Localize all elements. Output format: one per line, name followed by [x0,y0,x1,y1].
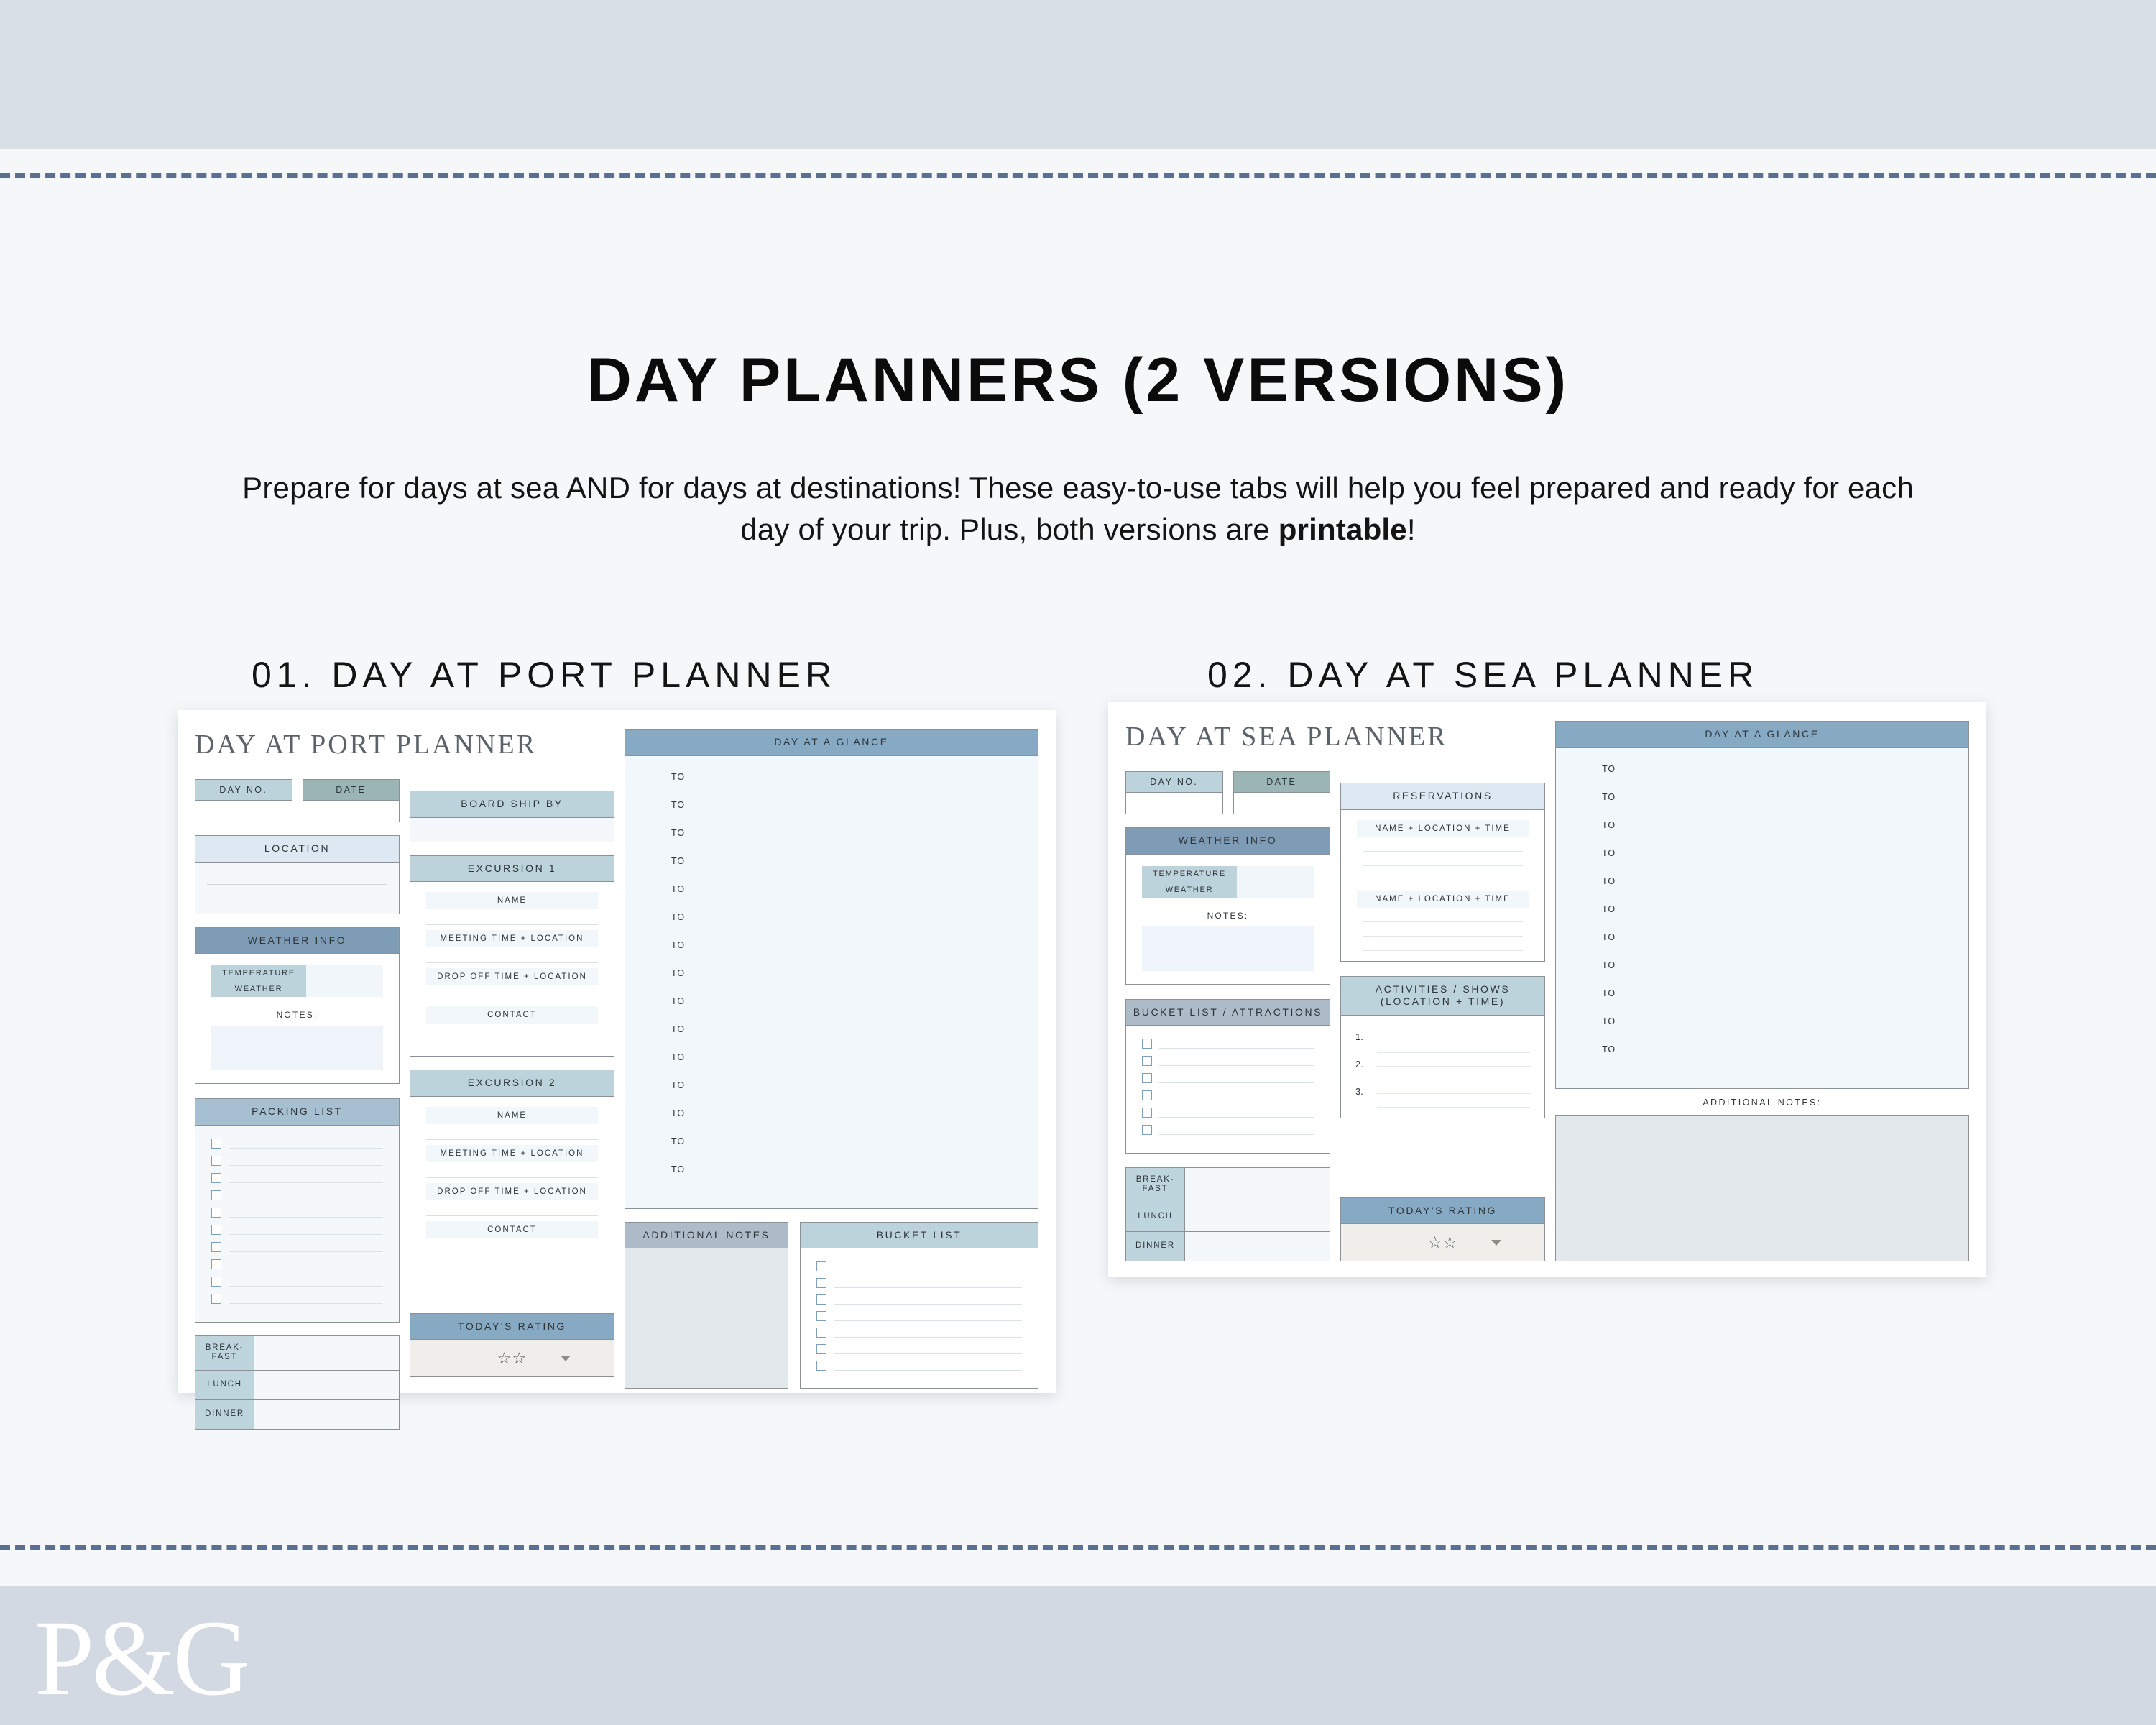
excursion-write-line[interactable] [426,1039,598,1039]
activity-write-lines[interactable] [1377,1080,1530,1108]
checklist-row[interactable] [816,1277,1022,1288]
glance-time-row[interactable]: TO [625,1164,1038,1174]
excursion-write-line[interactable] [426,924,598,925]
glance-time-row[interactable]: TO [1556,932,1968,942]
sea-rating-module[interactable]: TODAY'S RATING ☆☆ [1340,1197,1545,1262]
activity-write-line[interactable] [1377,1039,1530,1039]
description-emphasis: printable [1279,512,1407,546]
checklist-row[interactable] [1142,1090,1314,1100]
reservation-write-lines[interactable] [1357,851,1529,880]
chevron-down-icon[interactable] [1491,1240,1501,1246]
checklist-row[interactable] [1142,1107,1314,1118]
meal-input[interactable] [1185,1168,1330,1202]
meal-row: DINNER [195,1400,399,1429]
page-title: DAY PLANNERS (2 VERSIONS) [0,345,2156,416]
sea-temperature-input[interactable] [1237,866,1314,882]
checkbox-icon[interactable] [816,1294,826,1305]
checklist-write-line[interactable] [229,1217,383,1218]
checklist-write-line[interactable] [834,1287,1022,1288]
reservation-field-label: NAME + LOCATION + TIME [1357,820,1529,837]
checklist-write-line[interactable] [1159,1082,1314,1083]
checkbox-icon[interactable] [1142,1090,1152,1100]
meal-input[interactable] [1185,1202,1330,1231]
glance-time-row[interactable]: TO [625,1024,1038,1034]
meal-row: LUNCH [1126,1202,1330,1232]
port-bottom-right-row: ADDITIONAL NOTES BUCKET LIST [625,1222,1038,1389]
sea-additional-notes-label: ADDITIONAL NOTES: [1555,1089,1969,1115]
glance-time-row[interactable]: TO [1556,764,1968,774]
sea-date-input[interactable] [1234,792,1330,814]
checklist-write-line[interactable] [834,1353,1022,1354]
sea-activities-label-line2: (LOCATION + TIME) [1381,995,1505,1007]
reservation-write-line[interactable] [1363,880,1523,880]
glance-time-row[interactable]: TO [1556,1016,1968,1026]
checklist-row[interactable] [816,1327,1022,1338]
port-board-ship-module: BOARD SHIP BY [410,791,614,842]
checkbox-icon[interactable] [211,1138,221,1149]
checkbox-icon[interactable] [211,1207,221,1218]
top-color-band [0,0,2156,149]
checklist-row[interactable] [211,1276,383,1287]
meal-label: DINNER [195,1400,254,1429]
glance-time-row[interactable]: TO [625,1080,1038,1090]
sea-activities-module: ACTIVITIES / SHOWS (LOCATION + TIME) 1.2… [1340,976,1545,1118]
planner-port-section-title: 01. DAY AT PORT PLANNER [252,654,837,696]
checkbox-icon[interactable] [816,1328,826,1338]
reservation-write-line[interactable] [1363,936,1523,937]
meal-label: LUNCH [1126,1202,1185,1231]
checklist-write-line[interactable] [1159,1048,1314,1049]
reservation-write-line[interactable] [1363,865,1523,866]
port-rating-label: TODAY'S RATING [410,1314,614,1340]
sea-bucket-list-rows [1126,1025,1330,1153]
port-board-ship-input[interactable] [410,817,614,842]
sea-day-no-field[interactable]: DAY NO. [1125,771,1223,814]
sea-date-label: DATE [1234,772,1330,792]
activity-row[interactable]: 3. [1355,1080,1530,1108]
checklist-row[interactable] [1142,1055,1314,1066]
glance-time-row[interactable]: TO [1556,848,1968,858]
port-middle-spacer [410,729,614,791]
port-excursion-2-module: EXCURSION 2 NAMEMEETING TIME + LOCATIOND… [410,1069,614,1271]
port-rating-select[interactable]: ☆☆ [410,1339,614,1376]
port-location-module: LOCATION [195,835,400,914]
excursion-field[interactable]: CONTACT [426,1006,598,1039]
port-middle-flex-spacer [410,1284,614,1313]
activity-write-line[interactable] [1377,1107,1530,1108]
glance-time-row[interactable]: TO [625,912,1038,922]
sea-temperature-label: TEMPERATURE [1142,866,1237,882]
activity-number: 3. [1355,1080,1371,1097]
glance-time-row[interactable]: TO [625,968,1038,978]
glance-time-row[interactable]: TO [1556,1044,1968,1054]
port-excursion-1-module: EXCURSION 1 NAMEMEETING TIME + LOCATIOND… [410,855,614,1057]
port-day-no-field[interactable]: DAY NO. [195,779,292,822]
checklist-row[interactable] [211,1138,383,1149]
bottom-dashed-divider [0,1545,2156,1550]
checklist-write-line[interactable] [229,1200,383,1200]
glance-time-row[interactable]: TO [625,1136,1038,1146]
sea-rating-stars: ☆☆ [1428,1233,1457,1252]
top-dashed-divider [0,173,2156,178]
port-weather-notes-input[interactable] [211,1026,383,1070]
sea-activities-rows: 1.2.3. [1341,1015,1544,1118]
sea-weather-notes-label: NOTES: [1142,911,1314,921]
excursion-field[interactable]: MEETING TIME + LOCATION [426,930,598,963]
glance-time-row[interactable]: TO [1556,876,1968,886]
checkbox-icon[interactable] [816,1278,826,1288]
sea-additional-notes-input[interactable] [1555,1115,1969,1262]
excursion-field[interactable]: CONTACT [426,1221,598,1254]
excursion-field-label: MEETING TIME + LOCATION [426,1145,598,1162]
glance-time-row[interactable]: TO [625,856,1038,866]
port-column-left: DAY AT PORT PLANNER DAY NO. DATE LOCATIO… [195,729,400,1377]
excursion-write-line[interactable] [426,1253,598,1254]
glance-time-row[interactable]: TO [625,940,1038,950]
checklist-row[interactable] [211,1172,383,1183]
activity-row[interactable]: 2. [1355,1053,1530,1080]
excursion-field[interactable]: NAME [426,1107,598,1140]
port-weather-input[interactable] [306,981,383,997]
sea-column-right: DAY AT A GLANCE TOTOTOTOTOTOTOTOTOTOTO A… [1555,721,1969,1261]
sea-column-middle: RESERVATIONS NAME + LOCATION + TIMENAME … [1340,721,1545,1261]
port-bucket-list-rows [801,1248,1038,1388]
port-glance-rows: TOTOTOTOTOTOTOTOTOTOTOTOTOTOTO [625,755,1038,1208]
checklist-row[interactable] [816,1360,1022,1371]
reservation-field-label: NAME + LOCATION + TIME [1357,891,1529,908]
checklist-write-line[interactable] [834,1370,1022,1371]
checkbox-icon[interactable] [816,1361,826,1371]
port-additional-notes-label: ADDITIONAL NOTES [625,1223,788,1248]
reservation-write-line[interactable] [1363,950,1523,951]
glance-time-row[interactable]: TO [1556,820,1968,830]
checkbox-icon[interactable] [211,1294,221,1304]
meal-label: BREAK-FAST [1126,1168,1185,1202]
excursion-field-label: DROP OFF TIME + LOCATION [426,1183,598,1200]
port-column-middle: BOARD SHIP BY EXCURSION 1 NAMEMEETING TI… [410,729,614,1377]
reservation-write-line[interactable] [1363,921,1523,922]
checklist-row[interactable] [211,1190,383,1200]
checkbox-icon[interactable] [1142,1039,1152,1049]
checkbox-icon[interactable] [816,1344,826,1354]
checkbox-icon[interactable] [1142,1108,1152,1118]
glance-time-row[interactable]: TO [1556,904,1968,914]
sea-glance-rows: TOTOTOTOTOTOTOTOTOTOTO [1556,747,1968,1088]
checklist-write-line[interactable] [229,1165,383,1166]
port-packing-list-module: PACKING LIST [195,1098,400,1322]
port-location-rule [207,884,387,885]
activity-write-lines[interactable] [1377,1053,1530,1080]
port-temperature-row[interactable]: TEMPERATURE [211,965,383,981]
port-weather-module: WEATHER INFO TEMPERATURE WEATHER NOTES: [195,927,400,1085]
checklist-row[interactable] [816,1261,1022,1271]
port-board-ship-label: BOARD SHIP BY [410,791,614,817]
port-location-input[interactable] [195,862,399,914]
excursion-write-line[interactable] [426,1000,598,1001]
excursion-field-label: CONTACT [426,1006,598,1023]
checklist-row[interactable] [1142,1038,1314,1049]
port-excursion-2-fields: NAMEMEETING TIME + LOCATIONDROP OFF TIME… [410,1096,614,1271]
day-at-sea-planner-card: DAY AT SEA PLANNER DAY NO. DATE WEATHER … [1108,702,1986,1277]
checklist-row[interactable] [211,1293,383,1304]
port-date-field[interactable]: DATE [303,779,400,822]
port-weather-row-label: WEATHER [211,981,306,997]
sea-reservations-label: RESERVATIONS [1341,783,1544,809]
reservation-write-lines[interactable] [1357,921,1529,951]
port-meals-table: BREAK-FASTLUNCHDINNER [195,1335,400,1430]
excursion-field-label: MEETING TIME + LOCATION [426,930,598,947]
checkbox-icon[interactable] [211,1156,221,1166]
checkbox-icon[interactable] [211,1242,221,1252]
meal-input[interactable] [254,1336,399,1370]
port-weather-body: TEMPERATURE WEATHER NOTES: [195,953,399,1083]
glance-time-row[interactable]: TO [625,884,1038,894]
sea-reservations-module: RESERVATIONS NAME + LOCATION + TIMENAME … [1340,783,1545,962]
checklist-row[interactable] [1142,1124,1314,1135]
glance-time-row[interactable]: TO [1556,988,1968,998]
sea-bucket-list-module: BUCKET LIST / ATTRACTIONS [1125,999,1330,1154]
sea-weather-label: WEATHER INFO [1126,828,1330,854]
checklist-write-line[interactable] [834,1337,1022,1338]
checkbox-icon[interactable] [816,1311,826,1321]
port-rating-module[interactable]: TODAY'S RATING ☆☆ [410,1313,614,1378]
checklist-write-line[interactable] [229,1269,383,1269]
checklist-row[interactable] [816,1343,1022,1354]
checkbox-icon[interactable] [211,1190,221,1200]
sea-weather-row-label: WEATHER [1142,882,1237,898]
excursion-field-label: NAME [426,892,598,909]
checklist-row[interactable] [816,1294,1022,1305]
port-document-title: DAY AT PORT PLANNER [195,729,400,760]
activity-write-line[interactable] [1377,1066,1530,1067]
checklist-write-line[interactable] [1159,1100,1314,1100]
meal-row: DINNER [1126,1232,1330,1261]
port-weather-row[interactable]: WEATHER [211,981,383,997]
checklist-write-line[interactable] [1159,1134,1314,1135]
excursion-write-line[interactable] [426,962,598,963]
activity-number: 1. [1355,1026,1371,1042]
port-date-label: DATE [303,780,400,800]
excursion-field[interactable]: DROP OFF TIME + LOCATION [426,968,598,1001]
sea-activities-label-line1: ACTIVITIES / SHOWS [1376,983,1511,995]
checklist-row[interactable] [211,1207,383,1218]
checkbox-icon[interactable] [1142,1056,1152,1066]
checklist-row[interactable] [211,1241,383,1252]
sea-activities-label: ACTIVITIES / SHOWS (LOCATION + TIME) [1341,977,1544,1015]
sea-bucket-list-label: BUCKET LIST / ATTRACTIONS [1126,1000,1330,1026]
sea-middle-spacer [1340,721,1545,783]
meal-row: LUNCH [195,1371,399,1400]
checklist-write-line[interactable] [229,1286,383,1287]
port-day-no-label: DAY NO. [195,780,292,800]
checklist-row[interactable] [211,1224,383,1235]
sea-day-date-row: DAY NO. DATE [1125,771,1330,814]
sea-weather-body: TEMPERATURE WEATHER NOTES: [1126,854,1330,984]
meal-row: BREAK-FAST [1126,1168,1330,1202]
meal-input[interactable] [254,1371,399,1399]
port-date-input[interactable] [303,800,400,822]
checklist-write-line[interactable] [834,1304,1022,1305]
checkbox-icon[interactable] [211,1225,221,1235]
checkbox-icon[interactable] [211,1259,221,1269]
sea-glance-label: DAY AT A GLANCE [1556,722,1968,747]
meal-input[interactable] [1185,1232,1330,1261]
checklist-write-line[interactable] [1159,1065,1314,1066]
sea-weather-module: WEATHER INFO TEMPERATURE WEATHER NOTES: [1125,827,1330,985]
glance-time-row[interactable]: TO [625,800,1038,810]
port-rating-stars: ☆☆ [497,1349,527,1368]
sea-temperature-row[interactable]: TEMPERATURE [1142,866,1314,882]
checkbox-icon[interactable] [211,1173,221,1183]
meal-input[interactable] [254,1400,399,1429]
description-text-a: Prepare for days at sea AND for days at … [242,471,1914,546]
sea-meals-table: BREAK-FASTLUNCHDINNER [1125,1167,1330,1261]
checklist-write-line[interactable] [229,1303,383,1304]
sea-date-field[interactable]: DATE [1233,771,1331,814]
glance-time-row[interactable]: TO [625,828,1038,838]
checklist-row[interactable] [211,1155,383,1166]
meal-label: DINNER [1126,1232,1185,1261]
port-bucket-list-module: BUCKET LIST [800,1222,1038,1389]
checkbox-icon[interactable] [211,1276,221,1287]
checklist-write-line[interactable] [229,1234,383,1235]
port-excursion-1-fields: NAMEMEETING TIME + LOCATIONDROP OFF TIME… [410,881,614,1056]
sea-weather-row[interactable]: WEATHER [1142,882,1314,898]
port-location-label: LOCATION [195,836,399,862]
excursion-field-label: DROP OFF TIME + LOCATION [426,968,598,985]
activity-row[interactable]: 1. [1355,1026,1530,1053]
checklist-write-line[interactable] [834,1271,1022,1271]
checklist-row[interactable] [211,1259,383,1269]
port-additional-notes-input[interactable] [625,1248,788,1388]
sea-document-title: DAY AT SEA PLANNER [1125,721,1330,753]
activity-number: 2. [1355,1053,1371,1069]
port-day-no-input[interactable] [195,800,292,822]
day-at-port-planner-card: DAY AT PORT PLANNER DAY NO. DATE LOCATIO… [178,710,1056,1393]
port-excursion-1-label: EXCURSION 1 [410,856,614,882]
sea-day-no-label: DAY NO. [1126,772,1222,792]
excursion-write-line[interactable] [426,1215,598,1216]
chevron-down-icon[interactable] [561,1356,571,1361]
reservation-write-line[interactable] [1363,851,1523,852]
description-text-b: ! [1407,512,1416,546]
meal-row: BREAK-FAST [195,1336,399,1371]
planner-sea-section-title: 02. DAY AT SEA PLANNER [1207,654,1759,696]
excursion-field[interactable]: NAME [426,892,598,925]
brand-logo: P&G [34,1604,247,1712]
sea-weather-input[interactable] [1237,882,1314,898]
port-excursion-2-label: EXCURSION 2 [410,1070,614,1096]
excursion-field[interactable]: DROP OFF TIME + LOCATION [426,1183,598,1216]
checklist-write-line[interactable] [229,1251,383,1252]
sea-middle-flex-spacer [1340,1131,1545,1197]
checklist-write-line[interactable] [1159,1117,1314,1118]
glance-time-row[interactable]: TO [1556,792,1968,802]
activity-write-line[interactable] [1377,1093,1530,1094]
port-day-date-row: DAY NO. DATE [195,779,400,822]
port-bucket-list-label: BUCKET LIST [801,1223,1038,1248]
glance-time-row[interactable]: TO [625,996,1038,1006]
port-packing-list-rows [195,1125,399,1322]
sea-column-left: DAY AT SEA PLANNER DAY NO. DATE WEATHER … [1125,721,1330,1261]
glance-time-row[interactable]: TO [625,1108,1038,1118]
port-additional-notes-module: ADDITIONAL NOTES [625,1222,788,1389]
sea-reservations-fields: NAME + LOCATION + TIMENAME + LOCATION + … [1341,809,1544,961]
bottom-color-band [0,1586,2156,1725]
excursion-write-line[interactable] [426,1177,598,1178]
sea-rating-select[interactable]: ☆☆ [1341,1223,1544,1261]
port-weather-label: WEATHER INFO [195,928,399,954]
port-glance-label: DAY AT A GLANCE [625,730,1038,755]
glance-time-row[interactable]: TO [1556,960,1968,970]
checkbox-icon[interactable] [816,1261,826,1271]
glance-time-row[interactable]: TO [625,1052,1038,1062]
activity-write-lines[interactable] [1377,1026,1530,1053]
checklist-row[interactable] [816,1310,1022,1321]
port-weather-notes-label: NOTES: [211,1010,383,1020]
meal-label: LUNCH [195,1371,254,1399]
sea-rating-label: TODAY'S RATING [1341,1198,1544,1224]
excursion-write-line[interactable] [426,1139,598,1140]
port-temperature-input[interactable] [306,965,383,981]
checkbox-icon[interactable] [1142,1125,1152,1135]
sea-weather-notes-input[interactable] [1142,926,1314,971]
page-description: Prepare for days at sea AND for days at … [237,467,1919,551]
checklist-write-line[interactable] [834,1320,1022,1321]
checklist-write-line[interactable] [229,1182,383,1183]
glance-time-row[interactable]: TO [625,772,1038,782]
checkbox-icon[interactable] [1142,1073,1152,1083]
port-packing-list-label: PACKING LIST [195,1099,399,1125]
checklist-write-line[interactable] [229,1148,383,1149]
port-glance-module: DAY AT A GLANCE TOTOTOTOTOTOTOTOTOTOTOTO… [625,729,1038,1209]
port-column-right: DAY AT A GLANCE TOTOTOTOTOTOTOTOTOTOTOTO… [625,729,1038,1377]
excursion-field-label: NAME [426,1107,598,1124]
sea-day-no-input[interactable] [1126,792,1222,814]
excursion-field[interactable]: MEETING TIME + LOCATION [426,1145,598,1178]
meal-label: BREAK-FAST [195,1336,254,1370]
checklist-row[interactable] [1142,1072,1314,1083]
sea-glance-module: DAY AT A GLANCE TOTOTOTOTOTOTOTOTOTOTO [1555,721,1969,1089]
port-temperature-label: TEMPERATURE [211,965,306,981]
excursion-field-label: CONTACT [426,1221,598,1238]
